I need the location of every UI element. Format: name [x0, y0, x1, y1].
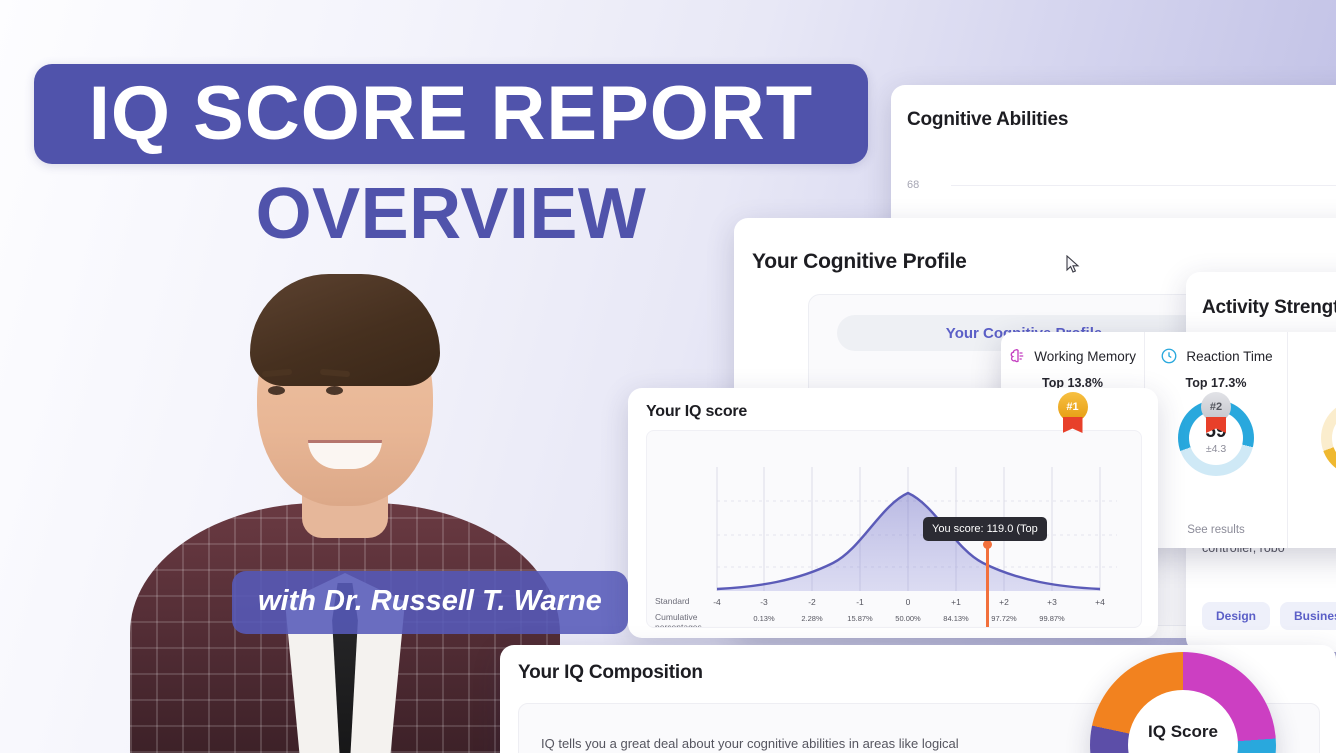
cum-pct-5: 84.13% [943, 614, 968, 623]
score-tooltip: You score: 119.0 (Top [923, 517, 1047, 541]
cum-pct-6: 97.72% [991, 614, 1016, 623]
x-tick--4: -4 [713, 597, 721, 607]
tag-business[interactable]: Business [1280, 602, 1336, 630]
tag-design[interactable]: Design [1202, 602, 1270, 630]
metric-header-verbal: Verb [1296, 346, 1336, 366]
metric-margin-reaction-time: ±4.3 [1206, 443, 1226, 455]
activity-strengths-title: Activity Strengths [1202, 297, 1336, 319]
x-tick-+2: +2 [999, 597, 1009, 607]
activity-strengths-tags: Design Business M [1202, 602, 1336, 630]
y-axis-label-top: 68 [907, 179, 919, 191]
cognitive-abilities-title: Cognitive Abilities [907, 109, 1068, 131]
metric-name-reaction-time: Reaction Time [1186, 349, 1272, 364]
iq-score-title: Your IQ score [646, 403, 747, 421]
metric-top-reaction-time: Top 17.3% [1153, 376, 1279, 390]
see-results-reaction-time[interactable]: See results [1145, 524, 1287, 536]
x-tick-+3: +3 [1047, 597, 1057, 607]
metric-header-working-memory: Working Memory [1009, 346, 1136, 366]
score-marker [986, 545, 989, 628]
metric-card-verbal[interactable]: Verb Top See [1287, 332, 1336, 548]
metric-top-verbal: Top [1296, 376, 1336, 390]
rank-label-working-memory: #1 [1066, 401, 1078, 413]
x-tick-+4: +4 [1095, 597, 1105, 607]
iq-score-chart: You score: 119.0 (Top Standard Cumulativ… [646, 430, 1142, 628]
brain-icon [1009, 346, 1027, 366]
donut-label: IQ Score [1148, 722, 1218, 742]
cum-pct-3: 15.87% [847, 614, 872, 623]
screenshot-stage: IQ SCORE REPORT OVERVIEW with Dr. Russel… [0, 0, 1336, 753]
x-tick-0: 0 [906, 597, 911, 607]
title-banner: IQ SCORE REPORT [34, 64, 868, 164]
x-tick--1: -1 [856, 597, 864, 607]
x-tick-+1: +1 [951, 597, 961, 607]
cum-pct-1: 0.13% [753, 614, 774, 623]
x-tick--3: -3 [760, 597, 768, 607]
donut-center: IQ Score [1128, 690, 1238, 753]
see-results-verbal[interactable]: See [1288, 524, 1336, 536]
rank-label-reaction-time: #2 [1210, 401, 1222, 413]
x-tick--2: -2 [808, 597, 816, 607]
mouse-cursor [1066, 255, 1080, 274]
presenter-eye-right [326, 386, 343, 395]
metric-ring-verbal [1321, 400, 1336, 476]
metric-name-working-memory: Working Memory [1034, 349, 1136, 364]
cognitive-profile-title: Your Cognitive Profile [752, 250, 967, 274]
cum-pct-7: 99.87% [1039, 614, 1064, 623]
ear-sound-icon [1332, 346, 1336, 366]
stopwatch-icon [1159, 346, 1179, 366]
iq-composition-body: IQ tells you a great deal about your cog… [541, 736, 959, 751]
rank-badge-reaction-time: #2 [1201, 392, 1231, 422]
iq-composition-title: Your IQ Composition [518, 662, 703, 684]
metric-card-reaction-time[interactable]: Reaction Time Top 17.3% 59 ±4.3 #2 See r… [1144, 332, 1287, 548]
presenter-name-badge: with Dr. Russell T. Warne [232, 571, 628, 634]
page-title: IQ SCORE REPORT [89, 76, 813, 152]
gridline-top [951, 185, 1336, 186]
metric-ring-center-verbal [1332, 411, 1336, 465]
cum-pct-2: 2.28% [801, 614, 822, 623]
metric-header-reaction-time: Reaction Time [1153, 346, 1279, 366]
axis-row-label-standard: Standard [655, 597, 711, 607]
rank-badge-working-memory: #1 [1058, 392, 1088, 422]
presenter-photo [130, 250, 560, 753]
cum-pct-4: 50.00% [895, 614, 920, 623]
presenter-eye-left [268, 386, 285, 395]
axis-row-label-cumulative: Cumulative percentages [655, 613, 711, 628]
presenter-name: with Dr. Russell T. Warne [258, 585, 602, 618]
